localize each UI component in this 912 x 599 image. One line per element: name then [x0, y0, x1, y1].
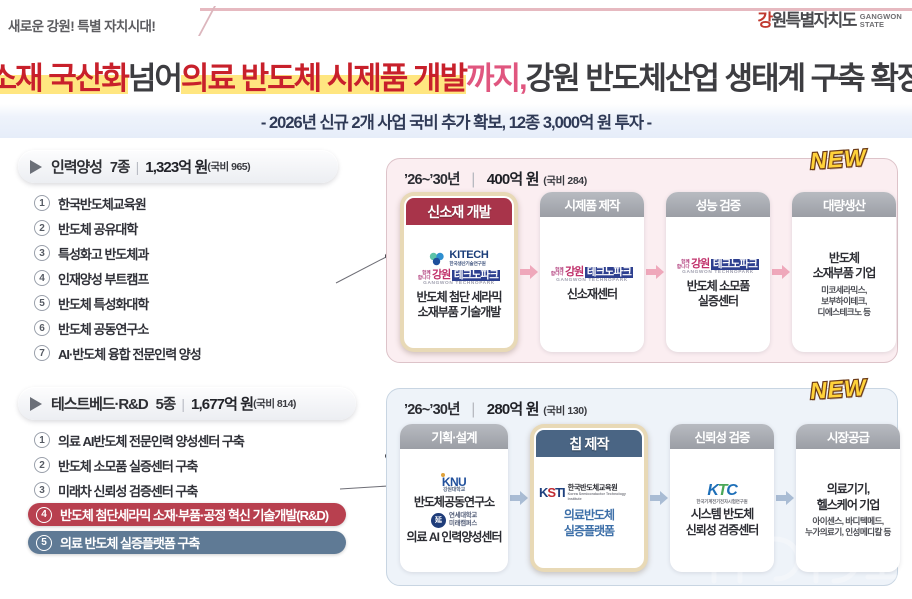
- flow-step-reliability-verification[interactable]: 신뢰성 검증 KTC 한국기계전기전자시험연구원 시스템 반도체 신뢰성 검증센…: [670, 424, 774, 572]
- page-title: 소재 국산화 넘어 의료 반도체 시제품 개발 까지, 강원 반도체산업 생태계…: [0, 55, 912, 101]
- left-category-column: 인력양성 7종 | 1,323억 원 (국비 965) 1한국반도체교육원 2반…: [0, 150, 368, 599]
- flow-step-caption: 칩 제작: [536, 430, 642, 457]
- arrow-right-icon: [518, 263, 540, 281]
- list-item[interactable]: 3미래차 신뢰성 검증센터 구축: [34, 478, 368, 502]
- flow-step-market-supply[interactable]: 시장공급 의료기기, 헬스케어 기업 아이센스, 바디텍메드, 누가의료기, 인…: [796, 424, 900, 572]
- yonsei-seal-char: 延: [435, 515, 442, 525]
- category-national-budget: (국비 814): [253, 396, 296, 411]
- flow-step-main-text: 반도체 첨단 세라믹 소재부품 기술개발: [417, 290, 502, 321]
- item-number: 7: [34, 345, 50, 361]
- flow-step-main-text-2: 의료 AI 인력양성센터: [407, 530, 502, 545]
- ksti-ti: TI: [555, 485, 565, 500]
- ksti-logo: KSTI 한국반도체교육원 Korea Semiconductor Techno…: [539, 484, 639, 501]
- category-name: 테스트베드·R&D: [51, 393, 148, 414]
- item-number: 5: [36, 535, 52, 551]
- manpower-item-list: 1한국반도체교육원 2반도체 공유대학 3특성화고 반도체과 4인재양성 부트캠…: [34, 191, 368, 365]
- yonsei-line2: 미래캠퍼스: [449, 520, 477, 528]
- category-amount: 1,323억 원: [145, 156, 207, 177]
- ksti-name-text: 한국반도체교육원 Korea Semiconductor Technology …: [568, 484, 639, 501]
- item-number: 2: [34, 457, 50, 473]
- gtp-english-text: GANGWON TECHNOPARK: [423, 282, 495, 287]
- arrow-right-icon: [770, 263, 792, 281]
- item-number: 2: [34, 220, 50, 236]
- ksti-s: S: [547, 485, 555, 500]
- brand-logo-korean: 강원특별자치도: [757, 12, 855, 29]
- kitech-wordmark: KITECH: [449, 250, 488, 261]
- knu-name-text: KNU: [442, 475, 466, 489]
- category-amount: 1,677억 원: [191, 393, 253, 414]
- gtp-technopark-text: 테크노파크: [585, 267, 633, 278]
- panel-national-budget: (국비 130): [543, 405, 587, 417]
- panel-separator: |: [471, 401, 475, 418]
- category-separator: |: [136, 159, 140, 175]
- kitech-logo: KITECH 한국생산기술연구원: [429, 250, 488, 267]
- knu-logo: KNU 강원대학교: [442, 476, 466, 493]
- list-item-highlighted-rnd[interactable]: 4반도체 첨단세라믹 소재·부품·공정 혁신 기술개발(R&D): [28, 503, 346, 526]
- flow-step-planning-design[interactable]: 기획·설계 KNU 강원대학교 반도체공동연구소 延 연세대학교 미래캠퍼스 의…: [400, 424, 508, 572]
- panel-amount: 280억 원: [487, 401, 539, 418]
- flow-step-caption: 기획·설계: [400, 424, 508, 449]
- gtp-small-line2: 합니다: [551, 272, 564, 277]
- item-number: 3: [34, 482, 50, 498]
- gangwon-technopark-logo: 함께 합니다 강원 테크노파크 GANGWON TECHNOPARK: [677, 259, 759, 276]
- item-label: 미래차 신뢰성 검증센터 구축: [58, 481, 197, 500]
- gtp-gangwon-text: 강원: [565, 267, 583, 278]
- ktc-k: K: [707, 482, 717, 499]
- panel-national-budget: (국비 284): [543, 175, 587, 187]
- headline-segment-4: 까지,: [466, 63, 526, 94]
- flow-step-caption: 시제품 제작: [540, 192, 644, 217]
- gangwon-technopark-logo: 함께 합니다 강원 테크노파크 GANGWON TECHNOPARK: [418, 270, 500, 287]
- ktc-t: T: [718, 482, 727, 499]
- panel-amount: 400억 원: [487, 171, 539, 188]
- gtp-gangwon-text: 강원: [691, 259, 709, 270]
- item-label: 반도체 특성화대학: [58, 294, 148, 313]
- list-item[interactable]: 2반도체 소모품 실증센터 구축: [34, 453, 368, 477]
- testbed-item-list: 1의료 AI반도체 전문인력 양성센터 구축 2반도체 소모품 실증센터 구축 …: [34, 428, 368, 554]
- flow-step-main-text: 반도체 소재부품 기업: [813, 251, 876, 282]
- flow-step-company-list: 아이센스, 바디텍메드, 누가의료기, 인성메디칼 등: [805, 516, 891, 538]
- brand-logo-accent-char: 강: [757, 11, 771, 30]
- list-item[interactable]: 5반도체 특성화대학: [34, 291, 368, 315]
- gtp-gangwon-text: 강원: [432, 270, 450, 281]
- flow-step-main-text: 반도체 소모품 실증센터: [687, 279, 750, 310]
- panel-header-new-materials: ’26~’30년 | 400억 원 (국비 284): [404, 168, 587, 189]
- header-rule-slash: [160, 6, 216, 36]
- flow-step-caption: 신뢰성 검증: [670, 424, 774, 449]
- flow-medical-chip: 기획·설계 KNU 강원대학교 반도체공동연구소 延 연세대학교 미래캠퍼스 의…: [400, 424, 886, 572]
- brand-logo-rest: 원특별자치도: [772, 11, 856, 30]
- arrow-right-icon: [508, 489, 530, 507]
- yonsei-logo: 延 연세대학교 미래캠퍼스: [431, 512, 477, 528]
- item-label: 특성화고 반도체과: [58, 244, 148, 263]
- knu-wordmark: KNU: [442, 476, 466, 488]
- ksti-english-name: Korea Semiconductor Technology Institute: [568, 492, 639, 501]
- list-item[interactable]: 7AI·반도체 융합 전문인력 양성: [34, 341, 368, 365]
- category-header-manpower[interactable]: 인력양성 7종 | 1,323억 원 (국비 965): [18, 150, 338, 183]
- list-item[interactable]: 1의료 AI반도체 전문인력 양성센터 구축: [34, 428, 368, 452]
- headline-segment-5: 강원 반도체산업 생태계 구축 확장: [526, 63, 912, 94]
- flow-step-chip-fabrication[interactable]: 칩 제작 KSTI 한국반도체교육원 Korea Semiconductor T…: [530, 424, 648, 572]
- panel-years: ’26~’30년: [404, 402, 460, 418]
- item-label: 반도체 첨단세라믹 소재·부품·공정 혁신 기술개발(R&D): [60, 505, 328, 524]
- flow-step-caption: 시장공급: [796, 424, 900, 449]
- subtitle-text: - 2026년 신규 2개 사업 국비 추가 확보, 12종 3,000억 원 …: [261, 109, 651, 133]
- ksti-mark-icon: KSTI: [539, 485, 565, 500]
- triangle-icon: [30, 397, 42, 411]
- new-badge-materials: NEW: [809, 144, 867, 175]
- infographic-root: 새로운 강원! 특별 자치시대! 강원특별자치도 GANGWON STATE 소…: [0, 0, 912, 599]
- category-count: 7종: [110, 156, 130, 177]
- ksti-korean-name: 한국반도체교육원: [568, 483, 618, 492]
- arrow-right-icon: [644, 263, 666, 281]
- item-label: 반도체 공동연구소: [58, 319, 148, 338]
- flow-step-company-list: 미코세라믹스, 보부하이테크, 디에스테크노 등: [818, 285, 871, 319]
- flow-step-main-text: 시스템 반도체 신뢰성 검증센터: [686, 507, 759, 538]
- flow-step-caption: 성능 검증: [666, 192, 770, 217]
- gtp-technopark-text: 테크노파크: [711, 259, 759, 270]
- item-label: 반도체 공유대학: [58, 219, 137, 238]
- arrow-right-icon: [774, 489, 796, 507]
- item-number: 4: [34, 270, 50, 286]
- flow-step-main-text: 반도체공동연구소: [414, 495, 494, 510]
- list-item[interactable]: 2반도체 공유대학: [34, 216, 368, 240]
- flow-step-main-text: 의료반도체 실증플랫폼: [564, 508, 614, 539]
- item-number: 5: [34, 295, 50, 311]
- yonsei-seal-icon: 延: [431, 513, 446, 528]
- brand-logo-english: GANGWON STATE: [860, 12, 902, 29]
- yonsei-line1: 연세대학교: [449, 512, 477, 520]
- ktc-subtext: 한국기계전기전자시험연구원: [696, 500, 747, 504]
- brand-en-line2: STATE: [860, 21, 902, 29]
- flow-step-main-text: 신소재센터: [567, 287, 617, 302]
- gtp-small-line2: 합니다: [418, 276, 431, 281]
- flow-step-performance-verification[interactable]: 성능 검증 함께 합니다 강원 테크노파크 GANGWON TECHNOPARK…: [666, 192, 770, 352]
- knu-dot-icon: [441, 473, 445, 477]
- category-national-budget: (국비 965): [207, 159, 250, 174]
- headline-segment-1: 소재 국산화: [0, 63, 128, 94]
- gtp-english-text: GANGWON TECHNOPARK: [556, 279, 628, 284]
- subtitle-band: - 2026년 신규 2개 사업 국비 추가 확보, 12종 3,000억 원 …: [0, 104, 912, 138]
- ktc-wordmark: KTC: [707, 483, 736, 499]
- brand-logo: 강원특별자치도 GANGWON STATE: [757, 12, 902, 29]
- item-number: 3: [34, 245, 50, 261]
- arrow-right-icon: [648, 489, 670, 507]
- item-number: 6: [34, 320, 50, 336]
- triangle-icon: [30, 160, 42, 174]
- category-separator: |: [181, 396, 185, 412]
- item-label: AI·반도체 융합 전문인력 양성: [58, 344, 201, 363]
- yonsei-text: 연세대학교 미래캠퍼스: [449, 512, 477, 528]
- item-label: 반도체 소모품 실증센터 구축: [58, 456, 197, 475]
- category-count: 5종: [156, 393, 176, 414]
- kitech-mark-icon: [429, 252, 446, 266]
- panel-separator: |: [471, 171, 475, 188]
- gtp-english-text: GANGWON TECHNOPARK: [682, 271, 754, 276]
- new-badge-medical: NEW: [809, 374, 867, 405]
- gtp-technopark-text: 테크노파크: [452, 270, 500, 281]
- flow-step-caption: 신소재 개발: [406, 198, 512, 225]
- top-bar: 새로운 강원! 특별 자치시대! 강원특별자치도 GANGWON STATE: [0, 0, 912, 46]
- flow-step-mass-production[interactable]: 대량생산 반도체 소재부품 기업 미코세라믹스, 보부하이테크, 디에스테크노 …: [792, 192, 896, 352]
- category-name: 인력양성: [51, 156, 102, 177]
- ktc-logo: KTC 한국기계전기전자시험연구원: [696, 483, 747, 504]
- flow-step-prototype-production[interactable]: 시제품 제작 함께 합니다 강원 테크노파크 GANGWON TECHNOPAR…: [540, 192, 644, 352]
- category-header-testbed[interactable]: 테스트베드·R&D 5종 | 1,677억 원 (국비 814): [18, 387, 356, 420]
- gtp-small-line2: 합니다: [677, 265, 690, 270]
- headline-segment-3: 의료 반도체 시제품 개발: [181, 63, 466, 94]
- ktc-c: C: [726, 482, 736, 499]
- flow-step-main-text: 의료기기, 헬스케어 기업: [817, 482, 880, 513]
- headline-segment-2: 넘어: [128, 63, 181, 94]
- panel-header-medical-chip: ’26~’30년 | 280억 원 (국비 130): [404, 398, 587, 419]
- item-label: 한국반도체교육원: [58, 194, 146, 213]
- list-item[interactable]: 1한국반도체교육원: [34, 191, 368, 215]
- item-label: 의료 반도체 실증플랫폼 구축: [60, 533, 199, 552]
- flow-new-materials: 신소재 개발 KITECH 한국생산기술연구원: [400, 192, 886, 352]
- item-number: 1: [34, 195, 50, 211]
- slogan-text: 새로운 강원! 특별 자치시대!: [8, 15, 155, 35]
- gangwon-technopark-logo: 함께 합니다 강원 테크노파크 GANGWON TECHNOPARK: [551, 267, 633, 284]
- item-number: 1: [34, 432, 50, 448]
- flow-step-new-material-development[interactable]: 신소재 개발 KITECH 한국생산기술연구원: [400, 192, 518, 352]
- item-number: 4: [36, 507, 52, 523]
- list-item-highlighted-platform[interactable]: 5의료 반도체 실증플랫폼 구축: [28, 531, 346, 554]
- list-item[interactable]: 6반도체 공동연구소: [34, 316, 368, 340]
- item-label: 의료 AI반도체 전문인력 양성센터 구축: [58, 431, 244, 450]
- list-item[interactable]: 4인재양성 부트캠프: [34, 266, 368, 290]
- list-item[interactable]: 3특성화고 반도체과: [34, 241, 368, 265]
- item-label: 인재양성 부트캠프: [58, 269, 148, 288]
- panel-years: ’26~’30년: [404, 172, 460, 188]
- kitech-subtext: 한국생산기술연구원: [449, 261, 488, 267]
- flow-step-caption: 대량생산: [792, 192, 896, 217]
